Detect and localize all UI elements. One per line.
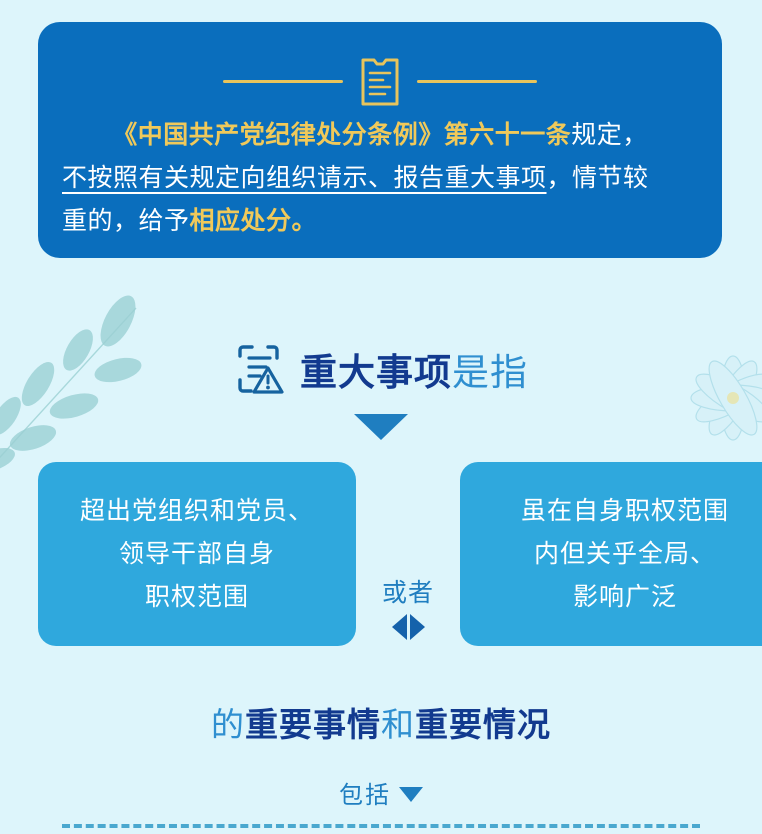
regulation-severity-clause: ，情节较 [547, 164, 649, 192]
include-label: 包括 [339, 782, 391, 809]
section-title-strong: 重大事项 [300, 352, 452, 393]
scope-card-right-line-3: 影响广泛 [521, 576, 729, 619]
conclusion-middle: 和 [381, 706, 415, 743]
scope-card-right-line-2: 内但关乎全局、 [521, 533, 729, 576]
or-arrows [356, 614, 460, 640]
section-title: 重大事项是指 [300, 342, 528, 396]
regulation-citation-suffix: 规定， [571, 121, 648, 149]
scope-card-left-line-2: 领导干部自身 [80, 533, 314, 576]
scope-card-left-line-3: 职权范围 [80, 576, 314, 619]
dashed-divider [62, 824, 700, 828]
gold-divider-right-icon [417, 80, 537, 83]
include-row: 包括 [0, 775, 762, 810]
scope-card-left-line-1: 超出党组织和党员、 [80, 490, 314, 533]
scope-card-right: 虽在自身职权范围 内但关乎全局、 影响广泛 [460, 462, 762, 646]
regulation-consequence-highlight: 相应处分。 [190, 207, 318, 235]
section-title-soft: 是指 [452, 352, 528, 393]
triangle-right-icon [410, 614, 425, 640]
section-title-row: 重大事项是指 [0, 342, 762, 396]
triangle-left-icon [392, 614, 407, 640]
conclusion-text: 的重要事情和重要情况 [0, 698, 762, 746]
regulation-quote: 《中国共产党纪律处分条例》第六十一条规定， 不按照有关规定向组织请示、报告重大事… [60, 114, 700, 243]
gold-divider-left-icon [223, 80, 343, 83]
document-warning-icon [234, 342, 286, 396]
scope-card-right-line-1: 虽在自身职权范围 [521, 490, 729, 533]
conclusion-strong-first: 重要事情 [245, 706, 381, 743]
scope-card-left: 超出党组织和党员、 领导干部自身 职权范围 [38, 462, 356, 646]
conclusion-strong-second: 重要情况 [415, 706, 551, 743]
regulation-header-panel: 《中国共产党纪律处分条例》第六十一条规定， 不按照有关规定向组织请示、报告重大事… [38, 22, 722, 258]
regulation-violation-clause: 不按照有关规定向组织请示、报告重大事项 [62, 164, 547, 192]
or-label: 或者 [356, 578, 460, 608]
down-caret-icon [399, 787, 423, 802]
regulation-consequence-prefix: 重的，给予 [62, 207, 190, 235]
conclusion-prefix: 的 [211, 706, 245, 743]
regulation-citation: 《中国共产党纪律处分条例》第六十一条 [112, 121, 571, 149]
section-arrow-down-icon [0, 414, 762, 445]
clipboard-document-icon [359, 54, 401, 108]
header-divider-row [38, 54, 722, 108]
or-connector: 或者 [356, 578, 460, 640]
